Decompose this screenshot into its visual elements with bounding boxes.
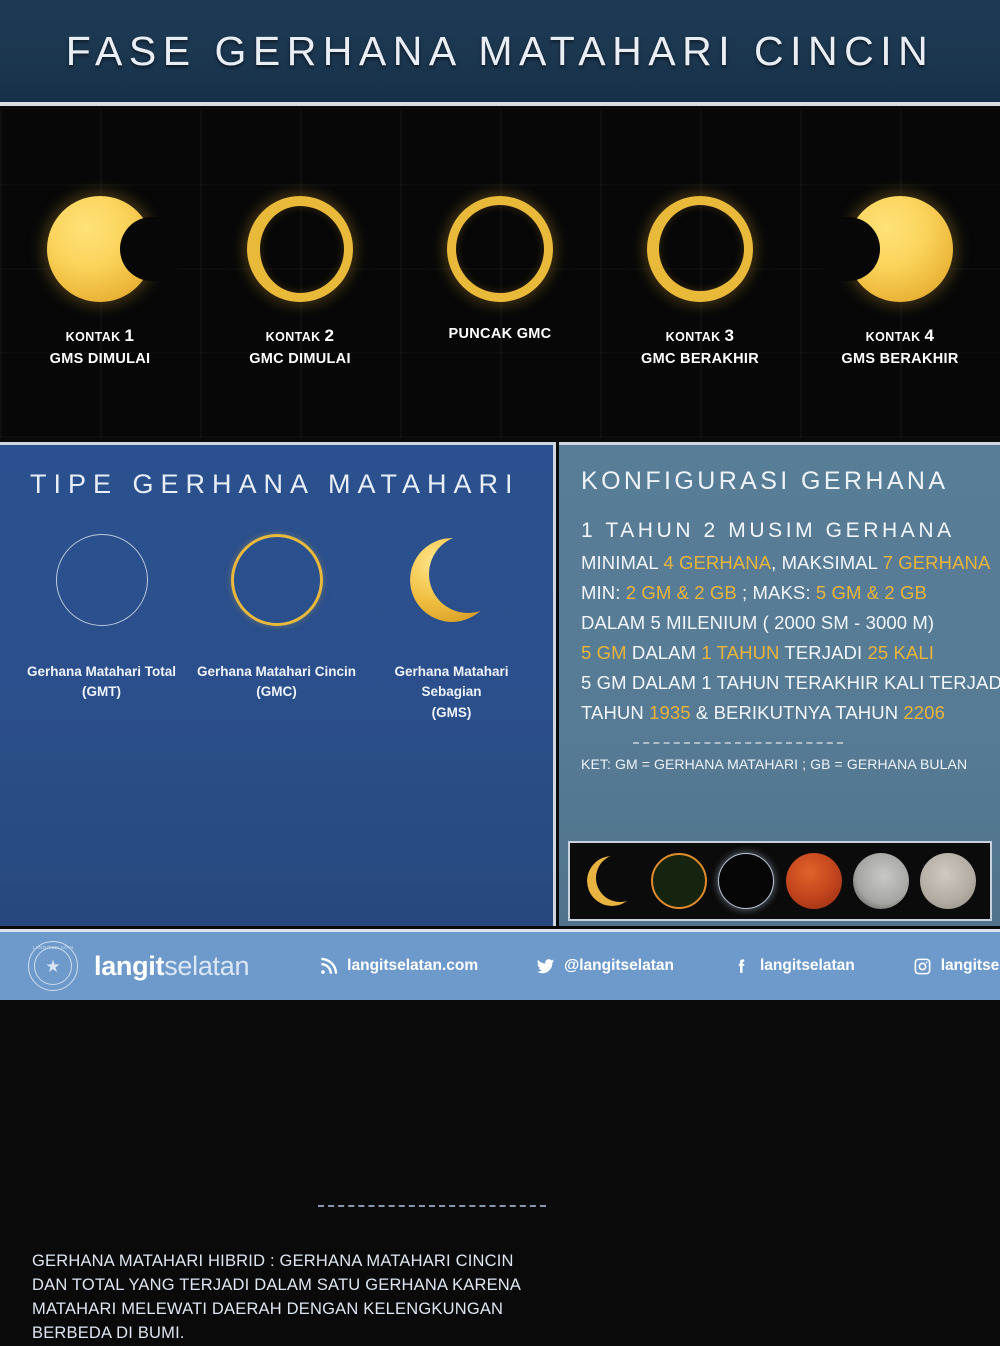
phase-item-4: KONTAK 3 GMC BERAKHIR xyxy=(600,196,800,370)
type-name: Gerhana Matahari Cincin xyxy=(197,662,356,682)
page-title: FASE GERHANA MATAHARI CINCIN xyxy=(66,28,934,75)
seal-emblem-icon: ★ xyxy=(34,947,72,985)
annular-ring-icon xyxy=(447,196,553,302)
config-legend-note: KET: GM = GERHANA MATAHARI ; GB = GERHAN… xyxy=(581,756,1000,772)
brand-light: selatan xyxy=(164,951,249,981)
social-label: @langitselatan xyxy=(564,957,674,975)
config-minmaks-line: MIN: 2 GM & 2 GB ; MAKS: 5 GM & 2 GB xyxy=(581,578,1000,608)
text-segment: , MAKSIMAL xyxy=(771,552,882,573)
phase-kontak-number: 4 xyxy=(924,326,934,345)
blood-moon-photo xyxy=(786,853,842,909)
highlight-segment: 5 GM xyxy=(581,642,627,663)
type-name: Gerhana Matahari Total xyxy=(27,662,176,682)
phase-sub-label: GMC BERAKHIR xyxy=(641,349,759,370)
facebook-icon xyxy=(732,957,751,976)
social-label: langitselatan xyxy=(760,957,855,975)
social-link-facebook[interactable]: langitselatan xyxy=(732,957,855,976)
type-item-sebagian: Gerhana Matahari Sebagian (GMS) xyxy=(364,534,539,723)
eclipse-photo-strip xyxy=(568,841,992,921)
highlight-segment: 4 GERHANA xyxy=(663,552,771,573)
phase-kontak-label: KONTAK xyxy=(266,330,321,344)
hybrid-description: GERHANA MATAHARI HIBRID : GERHANA MATAHA… xyxy=(32,1250,532,1346)
seal-text: LANGITSELATAN xyxy=(33,945,74,950)
phase-sub-label: GMC DIMULAI xyxy=(249,349,351,370)
types-title: TIPE GERHANA MATAHARI xyxy=(30,469,553,500)
text-segment: ; MAKS: xyxy=(737,582,816,603)
social-link-website[interactable]: langitselatan.com xyxy=(319,957,478,976)
type-name: Gerhana Matahari Sebagian xyxy=(364,662,539,703)
phase-kontak-label: KONTAK xyxy=(666,330,721,344)
divider-dashed xyxy=(633,742,843,744)
type-abbr: (GMT) xyxy=(27,682,176,702)
social-link-twitter[interactable]: @langitselatan xyxy=(536,957,674,976)
phase-sub-label: GMS DIMULAI xyxy=(50,349,151,370)
sun-notched-right-icon xyxy=(47,196,153,302)
highlight-segment: 7 GERHANA xyxy=(883,552,991,573)
phase-kontak-number: 2 xyxy=(324,326,334,345)
total-solar-diamond-ring-photo xyxy=(718,853,774,909)
brand-wordmark: langitselatan xyxy=(94,951,249,982)
highlight-segment: 1 TAHUN xyxy=(701,642,779,663)
config-season-line: 1 TAHUN 2 MUSIM GERHANA xyxy=(581,514,1000,548)
annular-ring-icon xyxy=(247,196,353,302)
config-title: KONFIGURASI GERHANA xyxy=(581,467,1000,496)
phase-item-5: KONTAK 4 GMS BERAKHIR xyxy=(800,196,1000,370)
text-segment: & BERIKUTNYA TAHUN xyxy=(691,702,904,723)
instagram-icon xyxy=(913,957,932,976)
phase-kontak-number: 3 xyxy=(724,326,734,345)
header-bar: FASE GERHANA MATAHARI CINCIN xyxy=(0,0,1000,106)
eclipse-phases-panel: KONTAK 1 GMS DIMULAI KONTAK 2 GMC DIMULA… xyxy=(0,110,1000,438)
highlight-segment: 2206 xyxy=(903,702,945,723)
full-moon-photo xyxy=(920,853,976,909)
langitselatan-seal-logo: LANGITSELATAN ★ xyxy=(28,941,78,991)
highlight-segment: 1935 xyxy=(649,702,691,723)
twitter-icon xyxy=(536,957,555,976)
highlight-segment: 5 GM & 2 GB xyxy=(816,582,927,603)
phase-kontak-label: PUNCAK GMC xyxy=(449,324,552,345)
text-segment: MIN: xyxy=(581,582,626,603)
social-label: langitselatan.com xyxy=(347,957,478,975)
gold-ring-icon xyxy=(231,534,323,626)
annular-crescent-photo xyxy=(584,853,640,909)
highlight-segment: 25 KALI xyxy=(867,642,934,663)
text-segment: DALAM xyxy=(627,642,702,663)
type-abbr: (GMC) xyxy=(197,682,356,702)
social-label: langitselatanmedia xyxy=(941,957,1000,975)
config-milenium-line: DALAM 5 MILENIUM ( 2000 SM - 3000 M) xyxy=(581,608,1000,638)
phase-item-2: KONTAK 2 GMC DIMULAI xyxy=(200,196,400,370)
phase-item-3: PUNCAK GMC xyxy=(400,196,600,345)
footer-bar: LANGITSELATAN ★ langitselatan langitsela… xyxy=(0,929,1000,1000)
config-years-line: TAHUN 1935 & BERIKUTNYA TAHUN 2206 xyxy=(581,698,1000,728)
phase-sub-label: GMS BERAKHIR xyxy=(841,349,958,370)
rss-icon xyxy=(319,957,338,976)
config-5gm-line: 5 GM DALAM 1 TAHUN TERJADI 25 KALI xyxy=(581,638,1000,668)
circle-outline-icon xyxy=(56,534,148,626)
text-segment: MINIMAL xyxy=(581,552,663,573)
type-item-total: Gerhana Matahari Total (GMT) xyxy=(14,534,189,723)
phase-kontak-label: KONTAK xyxy=(866,330,921,344)
phase-kontak-label: KONTAK xyxy=(66,330,121,344)
sun-notched-left-icon xyxy=(847,196,953,302)
infographic-page: FASE GERHANA MATAHARI CINCIN KONTAK 1 GM… xyxy=(0,0,1000,1000)
eclipse-types-panel: TIPE GERHANA MATAHARI Gerhana Matahari T… xyxy=(0,442,556,926)
crescent-icon xyxy=(406,534,498,626)
type-item-cincin: Gerhana Matahari Cincin (GMC) xyxy=(189,534,364,723)
partial-lunar-eclipse-photo xyxy=(853,853,909,909)
annular-ring-photo xyxy=(651,853,707,909)
text-segment: TAHUN xyxy=(581,702,649,723)
text-segment: TERJADI xyxy=(780,642,868,663)
annular-ring-icon xyxy=(647,196,753,302)
divider-dashed xyxy=(318,1205,546,1207)
type-abbr: (GMS) xyxy=(364,703,539,723)
brand-bold: langit xyxy=(94,951,164,981)
social-links: langitselatan.com @langitselatan langits… xyxy=(319,957,1000,976)
social-link-instagram[interactable]: langitselatanmedia xyxy=(913,957,1000,976)
highlight-segment: 2 GM & 2 GB xyxy=(626,582,737,603)
phase-item-1: KONTAK 1 GMS DIMULAI xyxy=(0,196,200,370)
phase-kontak-number: 1 xyxy=(124,326,134,345)
config-min-max-line: MINIMAL 4 GERHANA, MAKSIMAL 7 GERHANA xyxy=(581,548,1000,578)
config-last-occurrence-line: 5 GM DALAM 1 TAHUN TERAKHIR KALI TERJADI xyxy=(581,668,1000,698)
